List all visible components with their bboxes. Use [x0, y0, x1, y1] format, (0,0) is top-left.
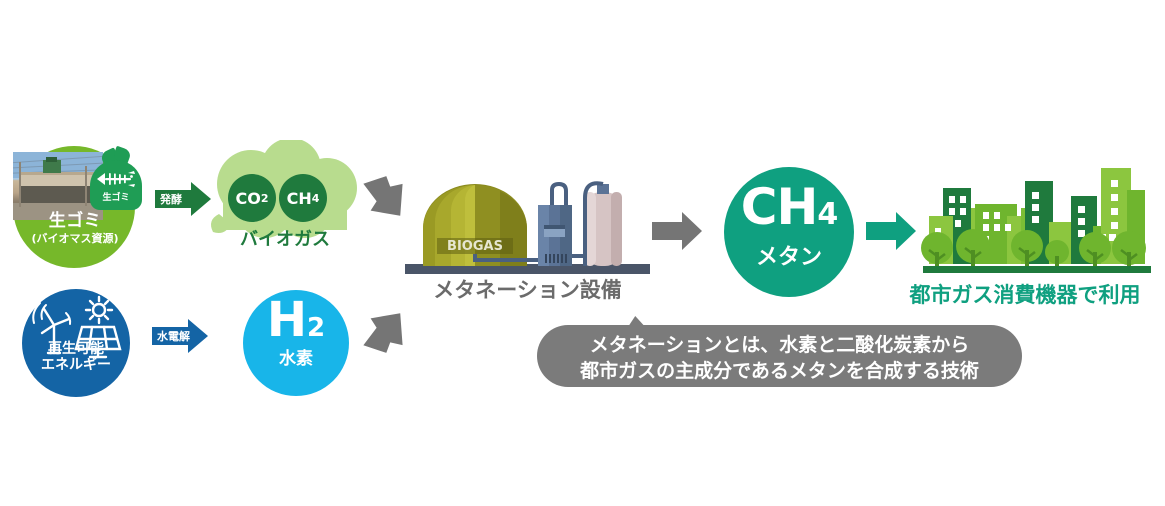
- hydrogen-label: 水素: [243, 350, 349, 370]
- co2-label: CO: [236, 189, 261, 208]
- city-skyline-illustration: [915, 160, 1160, 282]
- compressor-unit: [538, 184, 572, 266]
- fermentation-arrow-label: 発酵: [155, 182, 211, 216]
- caption-line-1: メタネーションとは、水素と二酸化炭素から: [537, 333, 1022, 359]
- biogas-dome-tank: BIOGAS: [423, 184, 527, 266]
- food-waste-label-main: 生ゴミ: [0, 212, 150, 232]
- fermentation-arrow: 発酵: [155, 182, 211, 216]
- caption-text: メタネーションとは、水素と二酸化炭素から 都市ガスの主成分であるメタンを合成する…: [537, 333, 1022, 384]
- methanation-facility-illustration: BIOGAS: [405, 178, 650, 276]
- food-waste-label-sub: (バイオマス資源): [0, 233, 150, 246]
- hydrogen-symbol-letter: H: [267, 292, 307, 348]
- ch4-subscript: 4: [312, 192, 320, 205]
- food-waste-label: 生ゴミ (バイオマス資源): [0, 212, 150, 245]
- garbage-bag-label: 生ゴミ: [86, 190, 146, 203]
- methane-symbol-letters: CH: [741, 178, 818, 236]
- fish-bone-icon: [95, 170, 137, 188]
- methane-symbol-subscript: 4: [817, 197, 837, 232]
- diagram-canvas: 生ゴミ 生ゴミ (バイオマス資源) 発酵 CO2 CH4 バイオ: [0, 0, 1165, 506]
- city-ground: [923, 266, 1151, 273]
- ch4-label: CH: [287, 189, 312, 208]
- co2-subscript: 2: [261, 192, 269, 205]
- arrow-right-green: [866, 212, 916, 250]
- gas-cylinder: [584, 184, 622, 266]
- methane-label: メタン: [724, 245, 854, 270]
- renewable-label-line2: エネルギー: [22, 357, 130, 373]
- hydrogen-symbol-subscript: 2: [307, 313, 325, 343]
- electrolysis-arrow: 水電解: [152, 319, 208, 353]
- hydrogen-symbol: H2: [243, 296, 349, 344]
- co2-molecule-badge: CO2: [228, 174, 276, 222]
- arrow-down-right-gray: [358, 172, 410, 224]
- biogas-tank-label: BIOGAS: [447, 239, 503, 254]
- methanation-facility-label: メタネーション設備: [400, 278, 655, 302]
- garbage-bag-icon: 生ゴミ: [86, 146, 146, 212]
- arrow-right-gray: [652, 212, 702, 250]
- arrow-up-right-gray: [358, 305, 410, 357]
- city-usage-label: 都市ガス消費機器で利用: [885, 283, 1165, 307]
- renewable-label-line1: 再生可能: [22, 341, 130, 357]
- caption-line-2: 都市ガスの主成分であるメタンを合成する技術: [537, 359, 1022, 385]
- ch4-molecule-badge: CH4: [279, 174, 327, 222]
- electrolysis-arrow-label: 水電解: [152, 319, 208, 353]
- renewable-energy-label: 再生可能 エネルギー: [22, 341, 130, 373]
- biogas-label: バイオガス: [215, 230, 355, 251]
- sun-icon: [86, 297, 112, 323]
- methane-symbol: CH4: [724, 182, 854, 232]
